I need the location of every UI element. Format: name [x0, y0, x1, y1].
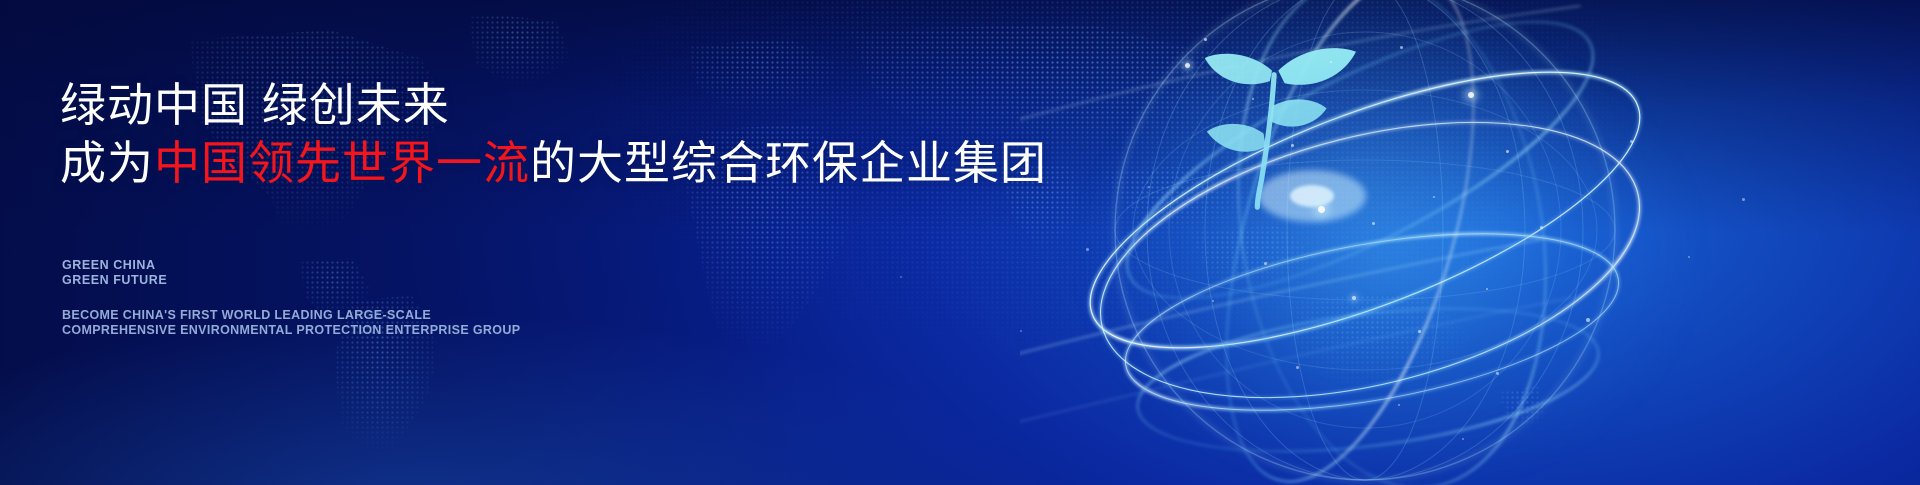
headline-line-2-suffix: 的大型综合环保企业集团 [530, 137, 1047, 189]
tagline-line-2: GREEN FUTURE [62, 273, 167, 288]
banner-tagline: GREEN CHINA GREEN FUTURE [62, 258, 167, 288]
headline-line-1: 绿动中国 绿创未来 [60, 76, 1047, 134]
headline-line-2: 成为中国领先世界一流的大型综合环保企业集团 [60, 134, 1047, 192]
tagline-line-1: GREEN CHINA [62, 258, 167, 273]
subtitle-line-2: COMPREHENSIVE ENVIRONMENTAL PROTECTION E… [62, 323, 520, 338]
banner-headline: 绿动中国 绿创未来 成为中国领先世界一流的大型综合环保企业集团 [60, 76, 1047, 192]
banner-text-content: 绿动中国 绿创未来 成为中国领先世界一流的大型综合环保企业集团 GREEN CH… [60, 0, 1060, 485]
headline-line-2-highlight: 中国领先世界一流 [154, 137, 530, 189]
hero-banner: 绿动中国 绿创未来 成为中国领先世界一流的大型综合环保企业集团 GREEN CH… [0, 0, 1920, 485]
subtitle-line-1: BECOME CHINA'S FIRST WORLD LEADING LARGE… [62, 308, 520, 323]
headline-line-2-prefix: 成为 [60, 137, 154, 189]
banner-subtitle: BECOME CHINA'S FIRST WORLD LEADING LARGE… [62, 308, 520, 337]
